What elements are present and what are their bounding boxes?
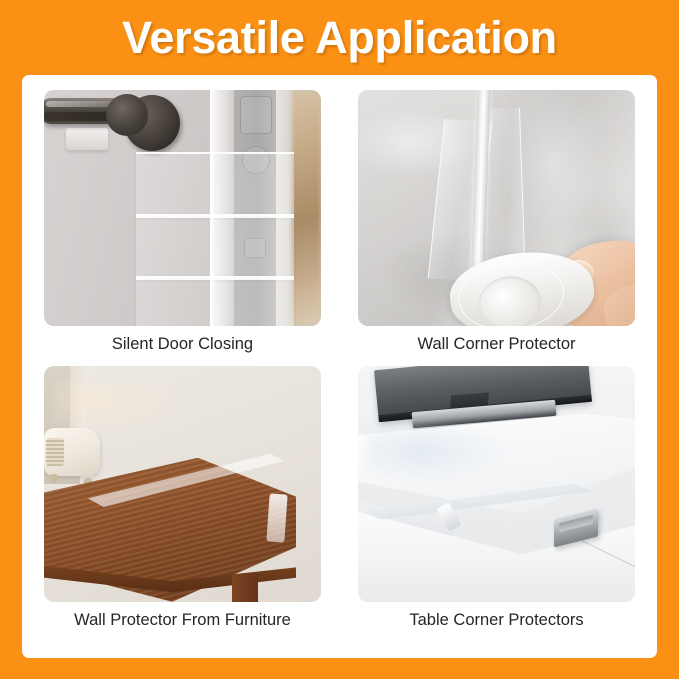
product-infographic: Versatile Application [0, 0, 679, 679]
wooden-table-edge-protector-photo [44, 366, 321, 602]
door-edge-with-corner-guards-photo [44, 90, 321, 326]
application-grid: Silent Door Closing [44, 90, 635, 631]
appliance-foot [50, 474, 58, 483]
cabinet-top-sheen [366, 424, 516, 482]
corner-guard-strip [136, 214, 294, 280]
content-panel: Silent Door Closing [22, 75, 657, 658]
application-caption: Wall Protector From Furniture [44, 611, 321, 631]
page-title: Versatile Application [122, 15, 557, 60]
application-caption: Silent Door Closing [44, 335, 321, 355]
application-item: Wall Protector From Furniture [44, 366, 321, 631]
hand-applying-tape-to-wall-corner-photo [358, 90, 635, 326]
application-item: Wall Corner Protector [358, 90, 635, 355]
blurred-background [292, 90, 321, 326]
corner-guard-strip [136, 276, 294, 326]
appliance-grille [46, 438, 64, 466]
table-leg [232, 574, 258, 602]
table-edge-protector-corner [266, 493, 287, 542]
table-sheen [54, 380, 194, 434]
title-bar: Versatile Application [0, 0, 679, 75]
application-item: Table Corner Protectors [358, 366, 635, 631]
door-handle-base [106, 94, 148, 136]
white-cabinet-edge-protector-photo [358, 366, 635, 602]
corner-guard-strip [136, 152, 294, 218]
cabinet-handle-inner [559, 515, 593, 532]
door-strike-plate [66, 128, 108, 150]
hinge-top-icon [240, 96, 272, 134]
small-appliance [44, 428, 100, 476]
application-item: Silent Door Closing [44, 90, 321, 355]
application-caption: Wall Corner Protector [358, 335, 635, 355]
application-caption: Table Corner Protectors [358, 611, 635, 631]
